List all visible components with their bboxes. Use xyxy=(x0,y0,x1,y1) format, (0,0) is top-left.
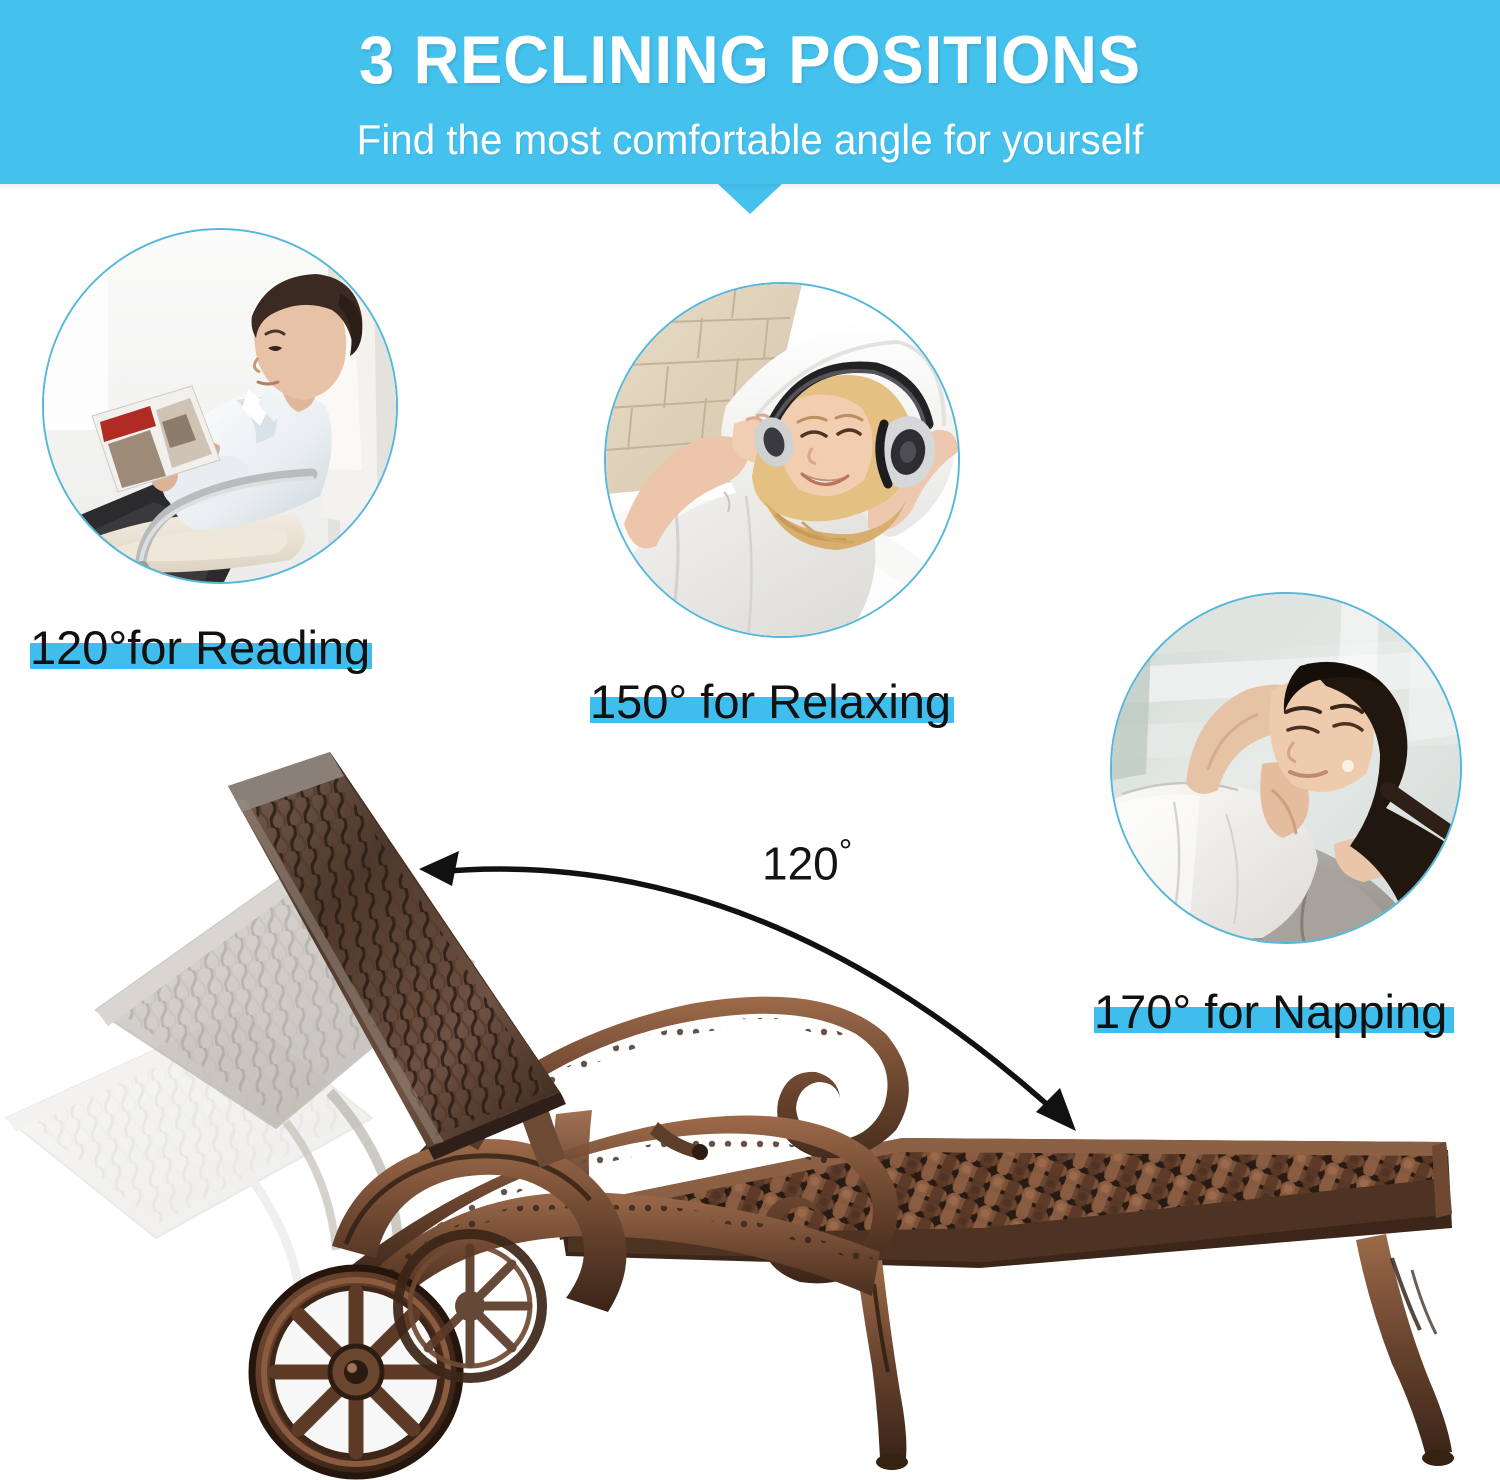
ghost-backrest-150 xyxy=(96,868,474,1250)
seat-deck xyxy=(560,1138,1452,1268)
label-relaxing: 150° for Relaxing xyxy=(590,678,951,725)
label-relaxing-text: 150° for Relaxing xyxy=(590,678,951,725)
chaise-legs xyxy=(856,1234,1454,1470)
photo-reading-art xyxy=(44,230,396,582)
photo-napping xyxy=(1110,592,1462,944)
label-reading-text: 120°for Reading xyxy=(30,624,370,671)
angle-annotation-120: 120° xyxy=(762,833,852,890)
header-banner: 3 RECLINING POSITIONS Find the most comf… xyxy=(0,0,1500,184)
rear-wheel xyxy=(398,1234,542,1378)
page-subtitle: Find the most comfortable angle for your… xyxy=(30,116,1470,164)
ghost-backrest-170 xyxy=(6,1012,372,1300)
photo-reading xyxy=(42,228,398,584)
degree-symbol-icon: ° xyxy=(839,833,853,871)
backrest-panel xyxy=(228,752,566,1160)
chaise-frame xyxy=(305,997,909,1352)
angle-annotation-number: 120 xyxy=(762,837,839,889)
page-title: 3 RECLINING POSITIONS xyxy=(53,26,1448,95)
photo-napping-art xyxy=(1112,594,1460,942)
photo-relaxing-art xyxy=(606,284,958,636)
photo-relaxing xyxy=(604,282,960,638)
banner-drop-shadow xyxy=(0,184,1500,191)
label-napping-text: 170° for Napping xyxy=(1094,988,1447,1035)
recline-hinge xyxy=(500,1054,708,1168)
label-napping: 170° for Napping xyxy=(1094,988,1447,1035)
recline-angle-arrow xyxy=(419,851,1076,1131)
infographic-canvas: 3 RECLINING POSITIONS Find the most comf… xyxy=(0,0,1500,1480)
label-reading: 120°for Reading xyxy=(30,624,370,671)
front-wheel xyxy=(252,1268,460,1476)
